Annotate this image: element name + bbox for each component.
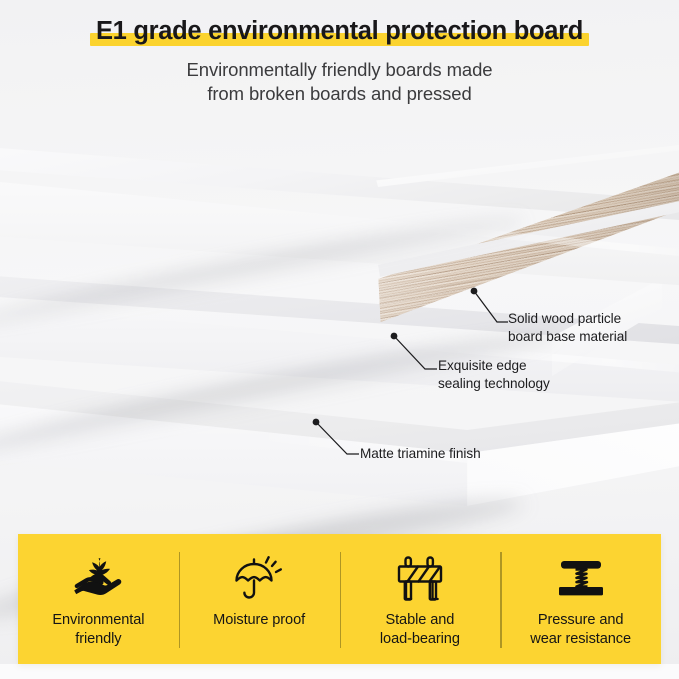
compression-press-icon	[554, 551, 608, 607]
feature-environmental-friendly: Environmental friendly	[18, 534, 179, 664]
callout-particle-core-line-2: board base material	[508, 328, 627, 346]
page-title: E1 grade environmental protection board	[96, 17, 583, 45]
feature-3-line-1: Pressure and	[530, 611, 631, 630]
feature-pressure-wear-resistance: Pressure and wear resistance	[500, 534, 661, 664]
feature-0-line-2: friendly	[52, 630, 144, 649]
feature-2-line-1: Stable and	[380, 611, 460, 630]
feature-1-line-1: Moisture proof	[213, 611, 305, 630]
board-top-melamine-lip-upper	[375, 130, 679, 190]
feature-moisture-proof-label: Moisture proof	[213, 611, 305, 630]
feature-2-line-2: load-bearing	[380, 630, 460, 649]
hand-holding-plant-icon	[71, 551, 125, 607]
feature-stable-load-bearing: Stable and load-bearing	[340, 534, 501, 664]
subtitle-line-1: Environmentally friendly boards made	[0, 58, 679, 82]
callout-matte-finish-line-1: Matte triamine finish	[360, 445, 481, 463]
callout-label-particle-core: Solid wood particle board base material	[508, 310, 627, 345]
header-section: E1 grade environmental protection board …	[0, 0, 679, 112]
board-top	[0, 130, 679, 330]
feature-3-line-2: wear resistance	[530, 630, 631, 649]
callout-label-matte-finish: Matte triamine finish	[360, 445, 481, 463]
title-block: E1 grade environmental protection board	[0, 14, 679, 48]
umbrella-rain-icon	[232, 551, 286, 607]
feature-stable-load-bearing-label: Stable and load-bearing	[380, 611, 460, 648]
feature-0-line-1: Environmental	[52, 611, 144, 630]
bottom-margin	[0, 664, 679, 679]
road-barrier-icon	[394, 551, 446, 607]
subtitle-line-2: from broken boards and pressed	[0, 82, 679, 106]
feature-pressure-wear-resistance-label: Pressure and wear resistance	[530, 611, 631, 648]
callout-edge-sealing-line-1: Exquisite edge	[438, 357, 550, 375]
subtitle: Environmentally friendly boards made fro…	[0, 58, 679, 105]
feature-strip: Environmental friendly Moisture proof	[18, 534, 661, 664]
callout-edge-sealing-line-2: sealing technology	[438, 375, 550, 393]
callout-particle-core-line-1: Solid wood particle	[508, 310, 627, 328]
feature-moisture-proof: Moisture proof	[179, 534, 340, 664]
product-infographic: E1 grade environmental protection board …	[0, 0, 679, 679]
feature-environmental-friendly-label: Environmental friendly	[52, 611, 144, 648]
callout-label-edge-sealing: Exquisite edge sealing technology	[438, 357, 550, 392]
